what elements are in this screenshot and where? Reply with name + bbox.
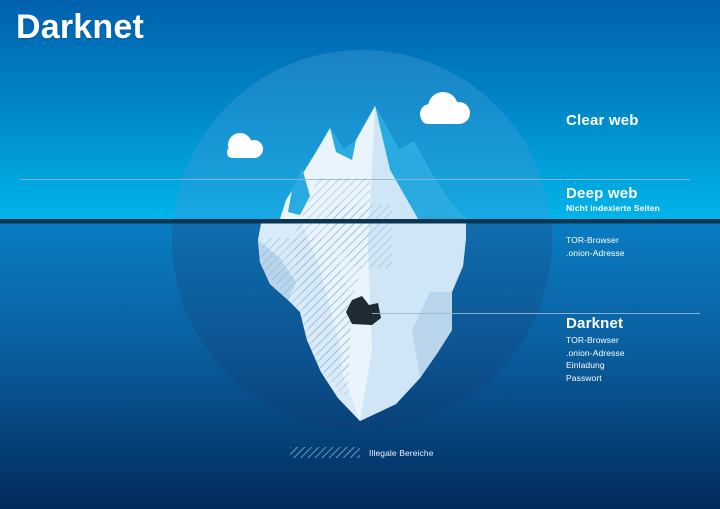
infographic-canvas: Darknet Clear web Deep web Nicht indexie…	[0, 0, 720, 509]
legend-hatch-swatch	[290, 447, 360, 458]
deep-web-subtitle: Nicht indexierte Seiten	[566, 203, 660, 213]
waterline	[0, 219, 720, 224]
deep-web-requirements: TOR-Browser .onion-Adresse	[566, 234, 625, 259]
clear-web-label: Clear web	[566, 112, 639, 129]
deep-web-label: Deep web	[566, 185, 638, 202]
darknet-label: Darknet	[566, 315, 623, 332]
darknet-requirements: TOR-Browser .onion-Adresse Einladung Pas…	[566, 334, 625, 384]
page-title: Darknet	[16, 8, 144, 47]
legend-label: Illegale Bereiche	[369, 448, 434, 458]
legend: Illegale Bereiche	[290, 447, 434, 458]
